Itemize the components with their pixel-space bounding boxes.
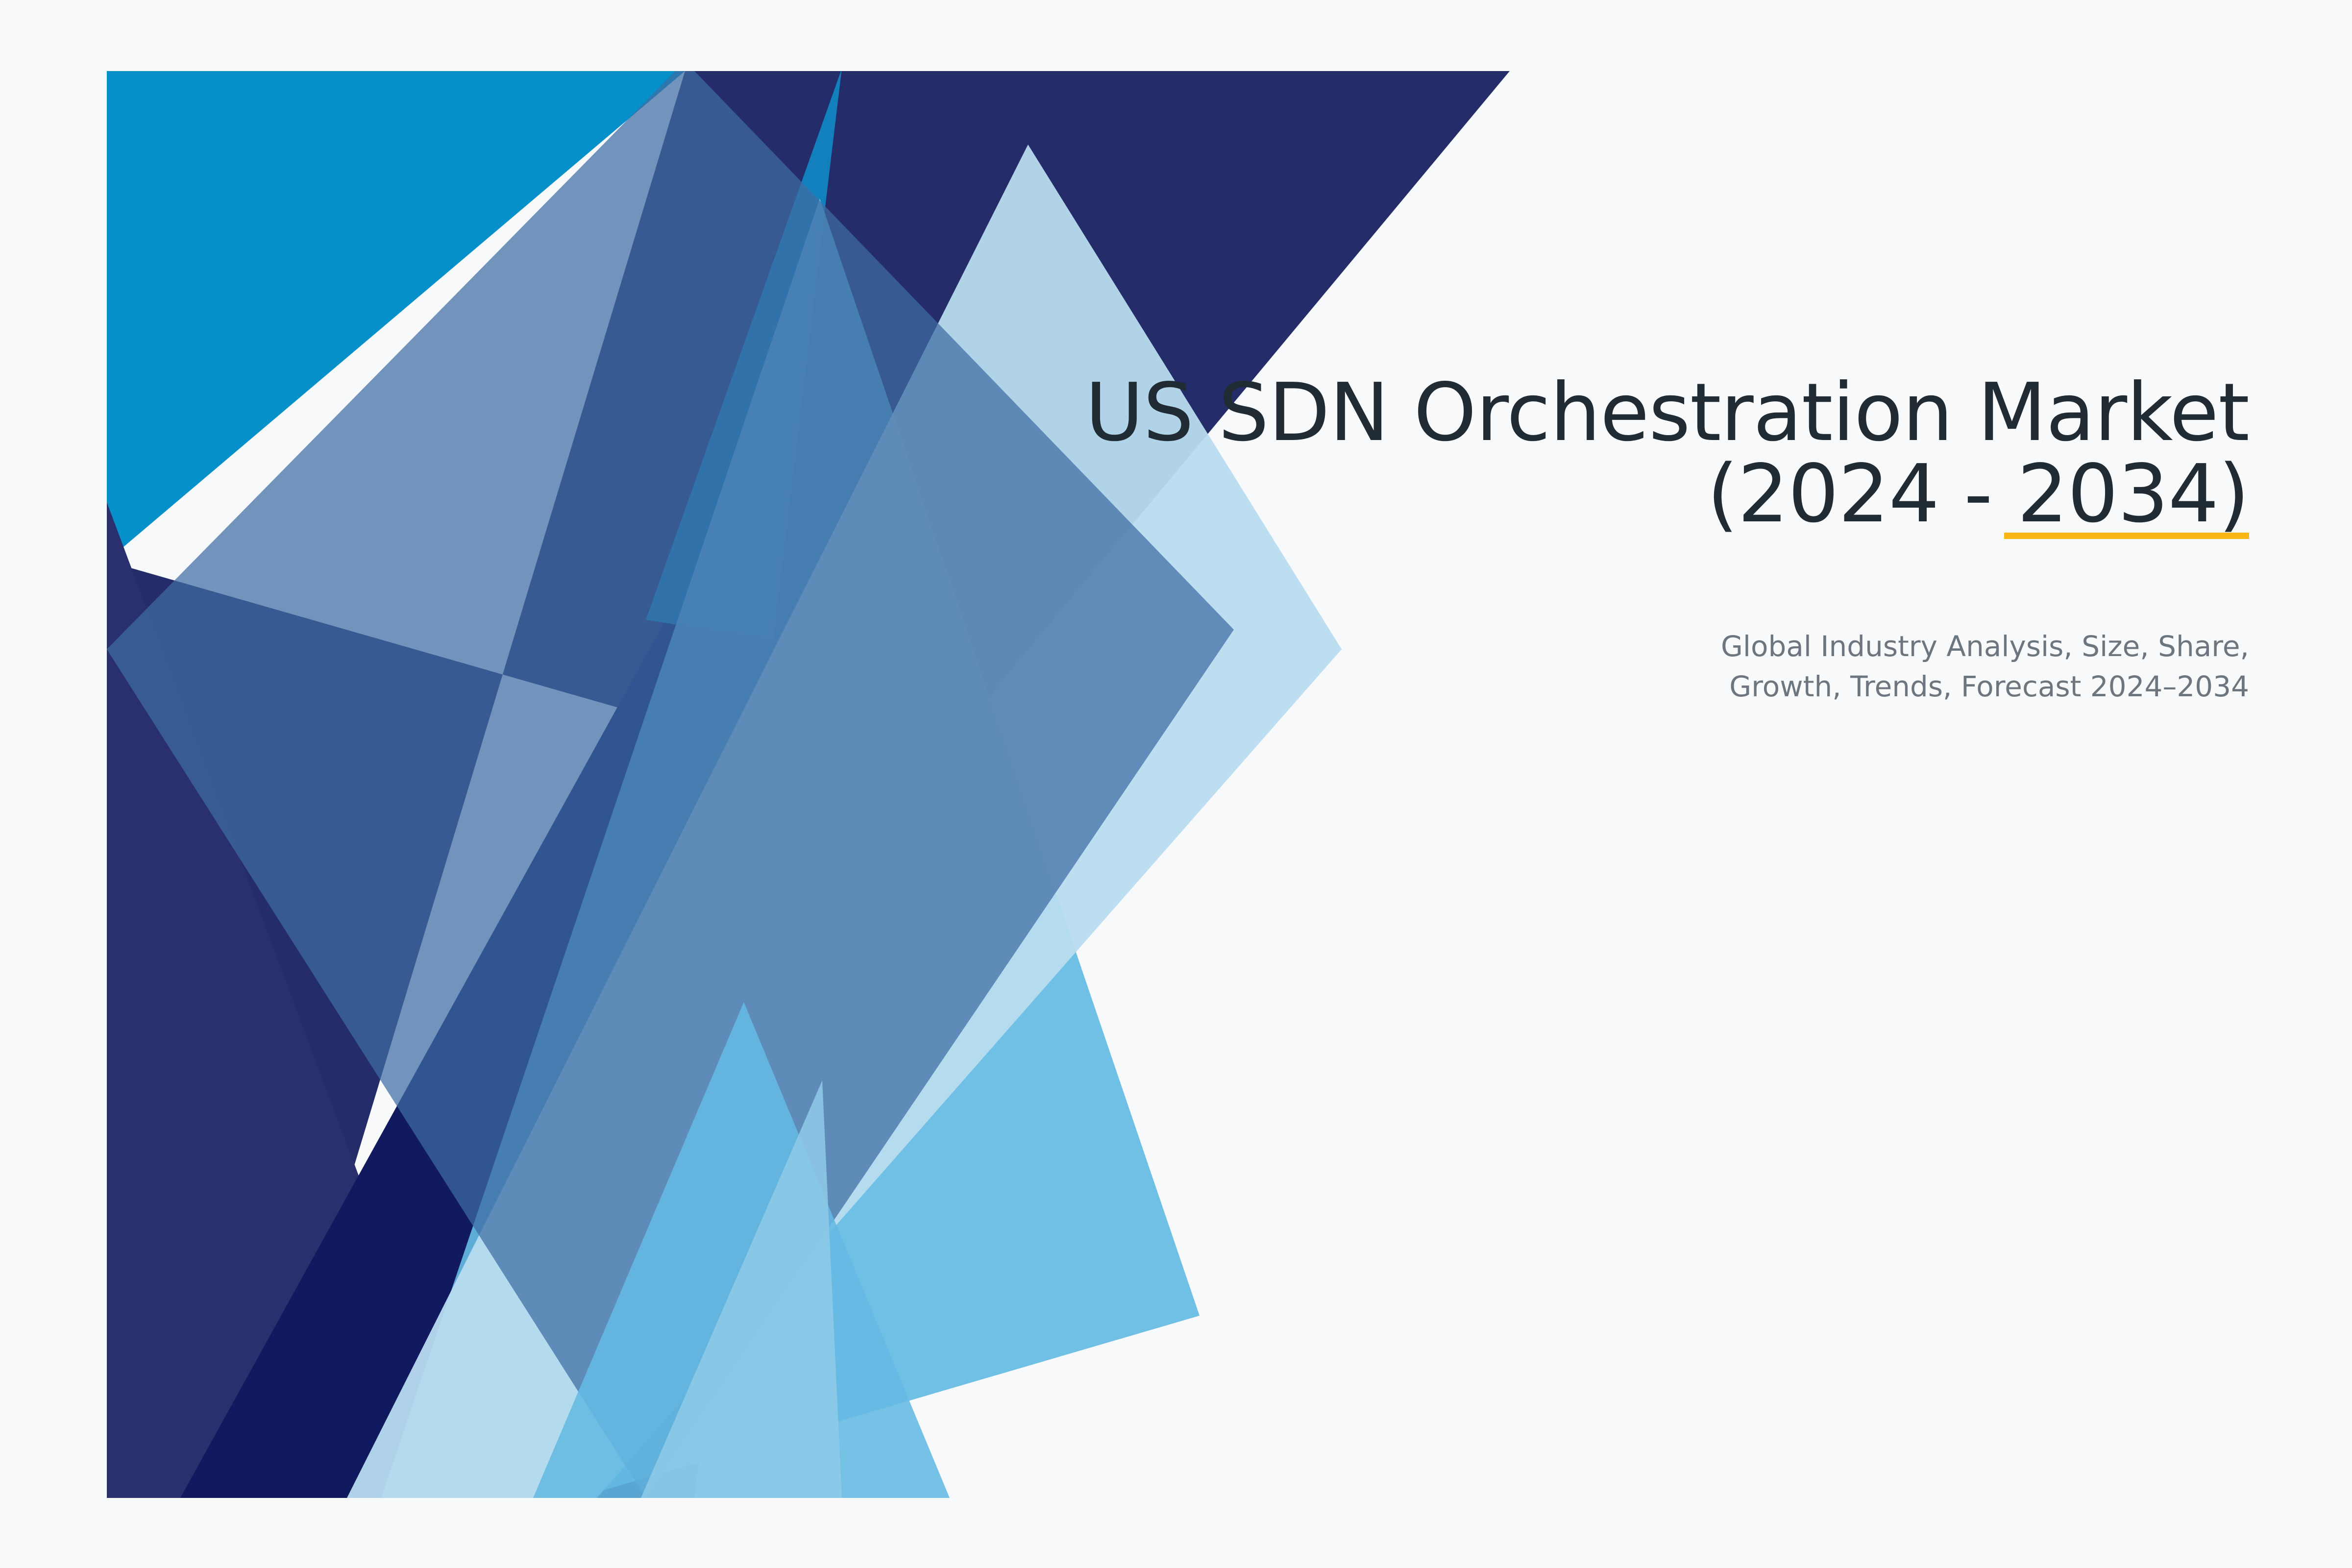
abstract-geometric-cover-art (107, 71, 1512, 1498)
cover-art-svg (107, 71, 1512, 1498)
title-wrapper: US SDN Orchestration Market (2024 - 2034… (833, 372, 2249, 536)
page-title: US SDN Orchestration Market (2024 - 2034… (833, 372, 2249, 536)
cover-text-block: US SDN Orchestration Market (2024 - 2034… (833, 372, 2249, 707)
page-subtitle: Global Industry Analysis, Size, Share, G… (833, 536, 2249, 707)
slide-canvas: US SDN Orchestration Market (2024 - 2034… (0, 0, 2352, 1568)
